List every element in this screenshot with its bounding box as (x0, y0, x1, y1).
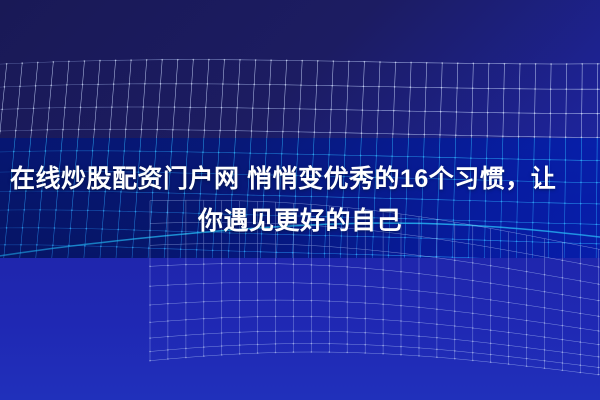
headline-line-1: 在线炒股配资门户网 悄悄变优秀的16个习惯，让 (10, 158, 590, 200)
stock-banner: 在线炒股配资门户网 悄悄变优秀的16个习惯，让 你遇见更好的自己 (0, 0, 600, 400)
headline-line-2: 你遇见更好的自己 (10, 200, 590, 242)
page-title: 在线炒股配资门户网 悄悄变优秀的16个习惯，让 你遇见更好的自己 (10, 158, 590, 242)
bottom-blue-block (0, 258, 600, 400)
